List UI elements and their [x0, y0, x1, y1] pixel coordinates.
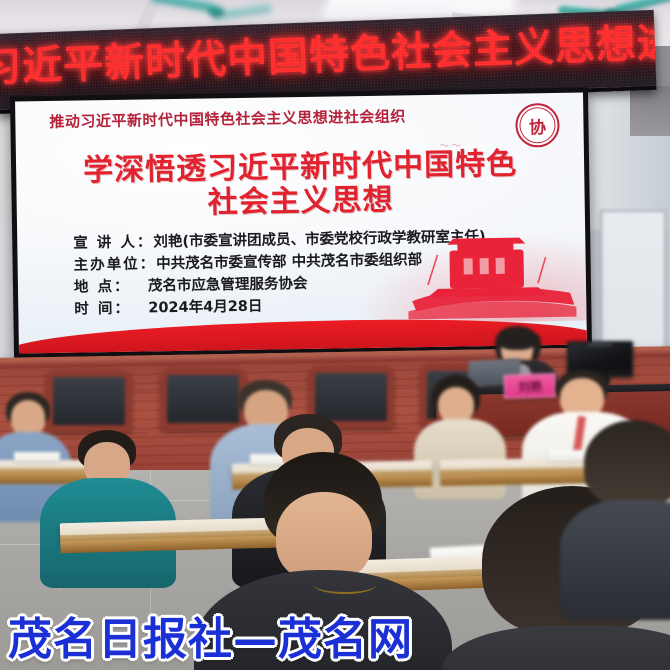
hair	[584, 420, 670, 506]
detail-value: 茂名市应急管理服务协会	[148, 276, 308, 295]
detail-label: 地 点：	[74, 275, 148, 298]
fan-blade	[150, 0, 217, 13]
monitor-screen	[569, 343, 631, 370]
mountain-wash-decoration	[314, 171, 586, 325]
head	[276, 492, 372, 582]
detail-value: 2024年4月28日	[148, 299, 262, 317]
detail-label: 主办单位：	[73, 253, 156, 276]
audience-member	[560, 420, 670, 600]
organization-seal-icon: 协	[515, 103, 560, 148]
head	[438, 387, 474, 423]
right-wall-shadow	[630, 86, 670, 136]
detail-label: 宣 讲 人：	[73, 231, 153, 254]
projection-screen: 推动习近平新时代中国特色社会主义思想进社会组织 协 〜〜 学深悟透习近平新时代中…	[15, 93, 587, 354]
monitor-brand-label: ViewSonic	[588, 342, 612, 347]
torso	[442, 626, 670, 670]
projection-screen-frame: 推动习近平新时代中国特色社会主义思想进社会组织 协 〜〜 学深悟透习近平新时代中…	[10, 87, 592, 358]
torso	[560, 500, 670, 620]
slide-header: 推动习近平新时代中国特色社会主义思想进社会组织	[49, 105, 406, 132]
necklace	[314, 576, 376, 594]
hair	[497, 326, 537, 350]
fan-hub	[208, 6, 224, 17]
watermark: 茂名日报社—茂名网	[8, 616, 413, 664]
detail-label: 时 间：	[74, 297, 148, 320]
head	[11, 400, 45, 436]
photo-canvas: 习近平新时代中国特色社会主义思想进社会组织宣讲会 推动习近平新时代中国特色社会主…	[0, 0, 670, 670]
